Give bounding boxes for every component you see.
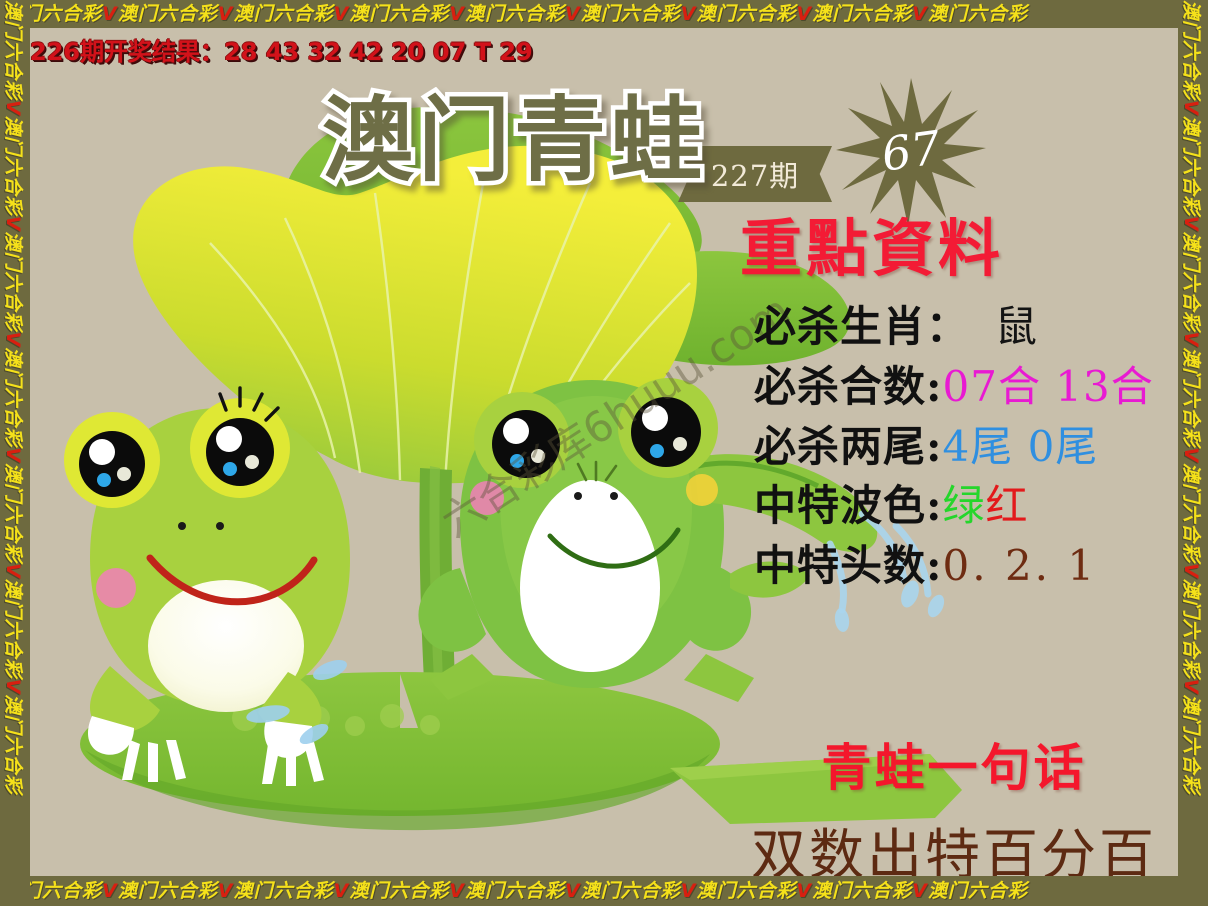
info-label-head: 中特头数: bbox=[754, 539, 943, 593]
info-label-tails: 必杀两尾: bbox=[754, 420, 943, 474]
draw-result-text: 226期开奖结果：28 43 32 42 20 07 T 29 bbox=[30, 38, 533, 66]
info-row-head: 中特头数: 0. 2. 1 bbox=[754, 539, 1178, 593]
panel-heading: 重點資料 bbox=[740, 198, 1178, 288]
border-bottom: 澳门六合彩V澳门六合彩V澳门六合彩V澳门六合彩V澳门六合彩V澳门六合彩V澳门六合… bbox=[0, 876, 1208, 906]
page-title: 澳门青蛙 bbox=[322, 66, 706, 199]
border-top: 澳门六合彩V澳门六合彩V澳门六合彩V澳门六合彩V澳门六合彩V澳门六合彩V澳门六合… bbox=[0, 0, 1208, 28]
info-value-sum: 07合 13合 bbox=[943, 360, 1154, 414]
phrase-block: 青蛙一句话 双数出特百分百 bbox=[730, 728, 1178, 876]
info-row-sum: 必杀合数: 07合 13合 bbox=[754, 360, 1178, 414]
info-label-sum: 必杀合数: bbox=[754, 360, 943, 414]
info-value-color-green: 绿 bbox=[943, 479, 986, 533]
border-left: 澳门六合彩V澳门六合彩V澳门六合彩V澳门六合彩V澳门六合彩V澳门六合彩V澳门六合… bbox=[0, 0, 30, 906]
info-value-color-red: 红 bbox=[986, 479, 1029, 533]
border-top-text: 澳门六合彩V澳门六合彩V澳门六合彩V澳门六合彩V澳门六合彩V澳门六合彩V澳门六合… bbox=[2, 0, 1028, 28]
border-right-text: 澳门六合彩V澳门六合彩V澳门六合彩V澳门六合彩V澳门六合彩V澳门六合彩V澳门六合… bbox=[1178, 0, 1204, 794]
info-row-zodiac: 必杀生肖： 鼠 bbox=[754, 300, 1178, 354]
info-value-zodiac: 鼠 bbox=[995, 300, 1038, 354]
info-list: 必杀生肖： 鼠 必杀合数: 07合 13合 必杀两尾: 4尾 0尾 中特波色: … bbox=[754, 300, 1178, 593]
info-row-color: 中特波色: 绿 红 bbox=[754, 479, 1178, 533]
phrase-title: 青蛙一句话 bbox=[730, 728, 1178, 800]
info-label-color: 中特波色: bbox=[754, 479, 943, 533]
info-label-zodiac: 必杀生肖： bbox=[754, 300, 969, 354]
phrase-text: 双数出特百分百 bbox=[730, 810, 1178, 876]
lottery-poster: 澳门六合彩V澳门六合彩V澳门六合彩V澳门六合彩V澳门六合彩V澳门六合彩V澳门六合… bbox=[0, 0, 1208, 906]
issue-number: 227期 bbox=[711, 153, 799, 195]
info-panel: 重點資料 必杀生肖： 鼠 必杀合数: 07合 13合 必杀两尾: 4尾 0尾 中… bbox=[710, 198, 1178, 599]
border-right: 澳门六合彩V澳门六合彩V澳门六合彩V澳门六合彩V澳门六合彩V澳门六合彩V澳门六合… bbox=[1178, 0, 1208, 906]
info-value-tails: 4尾 0尾 bbox=[943, 420, 1099, 474]
draw-result-line: 226期开奖结果：28 43 32 42 20 07 T 29 bbox=[30, 32, 533, 67]
poster-canvas: 226期开奖结果：28 43 32 42 20 07 T 29 澳门青蛙 67 … bbox=[30, 28, 1178, 876]
info-value-head: 0. 2. 1 bbox=[943, 539, 1098, 593]
border-left-text: 澳门六合彩V澳门六合彩V澳门六合彩V澳门六合彩V澳门六合彩V澳门六合彩V澳门六合… bbox=[0, 0, 26, 794]
info-row-tails: 必杀两尾: 4尾 0尾 bbox=[754, 420, 1178, 474]
border-bottom-text: 澳门六合彩V澳门六合彩V澳门六合彩V澳门六合彩V澳门六合彩V澳门六合彩V澳门六合… bbox=[2, 876, 1028, 906]
